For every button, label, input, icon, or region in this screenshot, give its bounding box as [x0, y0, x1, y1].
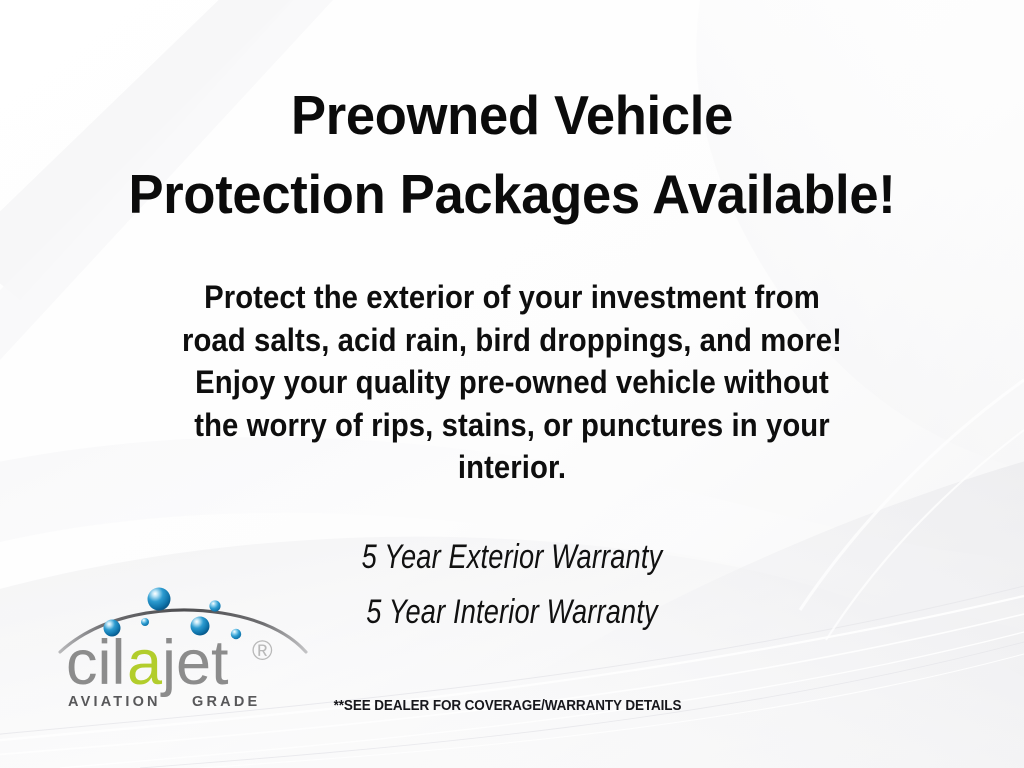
body-copy: Protect the exterior of your investment …: [44, 276, 981, 489]
headline-line-2: Protection Packages Available!: [23, 155, 1001, 234]
warranty-exterior: 5 Year Exterior Warranty: [102, 530, 921, 585]
body-line-3: Enjoy your quality pre-owned vehicle wit…: [44, 361, 981, 404]
logo-text-a: a: [127, 628, 163, 698]
logo-text-jet: jet: [160, 628, 229, 698]
bubble-small-1: [209, 600, 220, 611]
cilajet-logo-svg: cil a jet ® AVIATION GRADE: [56, 582, 308, 712]
bubble-large-1: [148, 588, 171, 611]
logo-registered-mark: ®: [252, 635, 273, 666]
logo-tagline-grade: GRADE: [192, 694, 260, 710]
headline-line-1: Preowned Vehicle: [23, 76, 1001, 155]
body-line-1: Protect the exterior of your investment …: [44, 276, 981, 319]
logo-wordmark: cil a jet ®: [66, 628, 273, 698]
bubble-tiny-1: [141, 618, 149, 626]
body-line-5: interior.: [44, 446, 981, 489]
bubble-small-2: [231, 629, 241, 639]
body-line-2: road salts, acid rain, bird droppings, a…: [44, 319, 981, 362]
slide-canvas: Preowned Vehicle Protection Packages Ava…: [0, 0, 1024, 768]
body-line-4: the worry of rips, stains, or punctures …: [44, 404, 981, 447]
cilajet-logo: cil a jet ® AVIATION GRADE: [56, 582, 308, 712]
page-title: Preowned Vehicle Protection Packages Ava…: [23, 76, 1001, 234]
logo-text-cil: cil: [66, 628, 126, 698]
logo-tagline-aviation: AVIATION: [68, 694, 161, 710]
